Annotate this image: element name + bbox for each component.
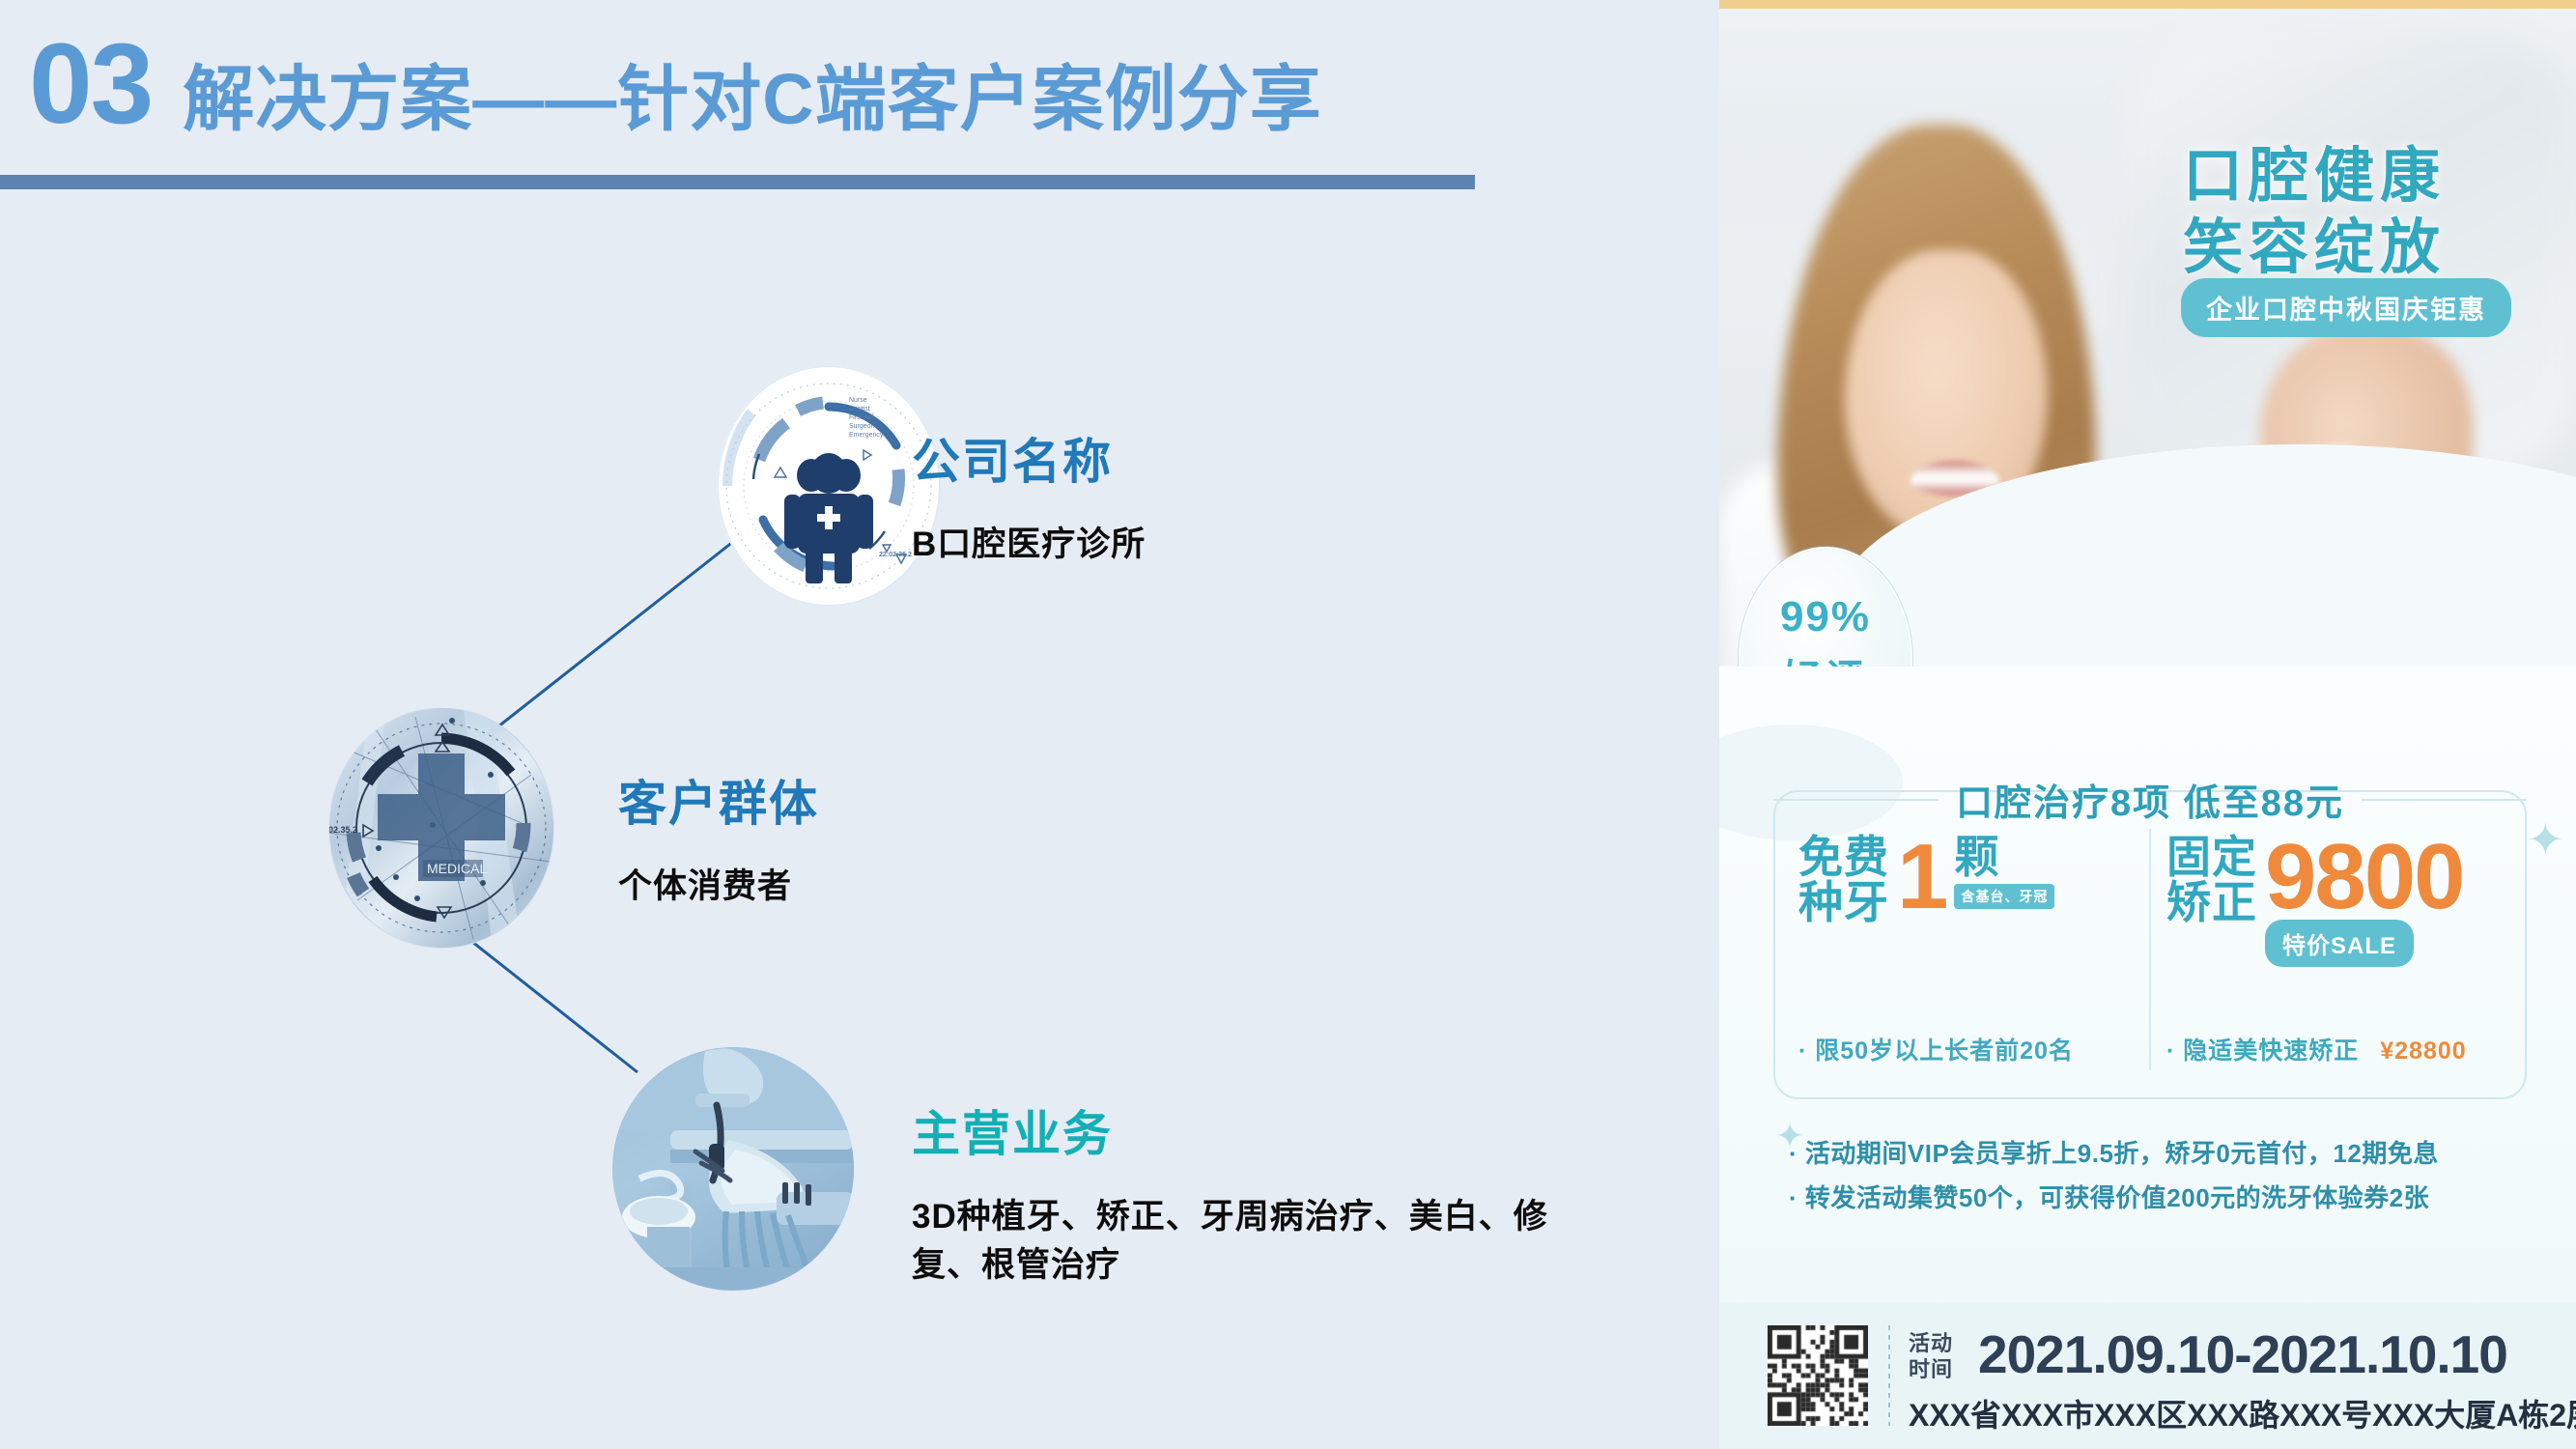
svg-text:First Aid: First Aid	[849, 414, 873, 421]
svg-text:Nurse: Nurse	[849, 397, 867, 404]
badge-company-icon: Nurse Dentist First Aid Surgeon Emergenc…	[717, 365, 941, 607]
svg-text:Surgeon: Surgeon	[849, 423, 875, 430]
offer-bullet-1: · 活动期间VIP会员享折上9.5折，矫牙0元首付，12期免息	[1789, 1132, 2439, 1177]
info-body-customer: 个体消费者	[618, 863, 819, 912]
offer-columns: 免费 种牙 1 颗 含基台、牙冠 · 限50岁以上长者前20名 固定	[1783, 829, 2517, 1070]
dental-chair-photo-icon	[612, 1047, 854, 1291]
svg-text:Dentist: Dentist	[849, 406, 870, 412]
svg-text:Emergency: Emergency	[849, 432, 884, 439]
poster-footer-bar: 活动 时间 2021.09.10-2021.10.10 XXX省XXX市XXX区…	[1719, 1302, 2576, 1449]
offer-footnote-implant: · 限50岁以上长者前20名	[1798, 1032, 2074, 1066]
offer-bullet-2: · 转发活动集赞50个，可获得价值200元的洗牙体验券2张	[1789, 1177, 2439, 1221]
offer-footnote-text: · 隐适美快速矫正	[2166, 1037, 2359, 1065]
svg-text:22:02:35.2: 22:02:35.2	[879, 552, 912, 558]
info-heading-company: 公司名称	[912, 437, 1146, 488]
badge-customer-icon: MEDICAL 02.35.2	[328, 707, 554, 949]
offer-word-line-2: 矫正	[2166, 880, 2257, 925]
medical-staff-badge-icon: Nurse Dentist First Aid Surgeon Emergenc…	[717, 365, 941, 607]
offer-footnote-price: ¥28800	[2380, 1037, 2466, 1065]
info-body-business: 3D种植牙、矫正、牙周病治疗、美白、修复、根管治疗	[912, 1193, 1588, 1292]
date-label-line-2: 时间	[1909, 1357, 1953, 1383]
info-heading-customer: 客户群体	[618, 779, 819, 830]
svg-text:02.35.2: 02.35.2	[328, 825, 357, 835]
offer-word-line-1: 免费	[1798, 835, 1889, 880]
poster-headline: 口腔健康 笑容绽放	[2183, 141, 2446, 285]
poster-headline-line-2: 笑容绽放	[2183, 213, 2446, 284]
info-block-company: 公司名称 B口腔医疗诊所	[912, 437, 1146, 569]
date-label: 活动 时间	[1909, 1331, 1953, 1383]
slide-left-content: 03 解决方案——针对C端客户案例分享	[0, 0, 1719, 1449]
poster-top-accent-bar	[1719, 0, 2576, 9]
offer-title: 口腔治疗8项 低至88元	[1956, 773, 2344, 826]
offer-word-line-1: 固定	[2166, 835, 2257, 880]
offer-footnote-braces: · 隐适美快速矫正 ¥28800	[2166, 1032, 2467, 1066]
poster-sub-badge: 企业口腔中秋国庆钜惠	[2181, 278, 2511, 337]
info-block-customer: 客户群体 个体消费者	[618, 779, 819, 911]
offer-words-implant: 免费 种牙	[1798, 835, 1889, 925]
footer-divider	[1888, 1325, 1890, 1426]
info-body-company: B口腔医疗诊所	[912, 521, 1146, 570]
offer-number-braces: 9800	[2265, 835, 2464, 920]
rule-left	[1773, 799, 1939, 801]
offer-main-braces: 固定 矫正 9800 特价SALE	[2166, 835, 2502, 967]
info-block-business: 主营业务 3D种植牙、矫正、牙周病治疗、美白、修复、根管治疗	[912, 1109, 1588, 1291]
medical-cross-badge-icon: MEDICAL 02.35.2	[328, 707, 554, 949]
poster-address: XXX省XXX市XXX区XXX路XXX号XXX大厦A栋2层	[1909, 1391, 2576, 1435]
offer-words-braces: 固定 矫正	[2166, 835, 2257, 925]
promo-poster-image: 口腔健康 笑容绽放 企业口腔中秋国庆钜惠 99% 好评 ✦ ✦ 口腔治疗8项 低…	[1719, 0, 2576, 1449]
offer-number-implant: 1	[1897, 835, 1946, 920]
date-label-line-1: 活动	[1909, 1331, 1953, 1357]
offer-unit-implant: 颗	[1954, 835, 2054, 880]
offer-chip-braces: 特价SALE	[2265, 920, 2414, 967]
date-range: 2021.09.10-2021.10.10	[1978, 1323, 2507, 1385]
rule-right	[2362, 799, 2527, 801]
info-heading-business: 主营业务	[912, 1109, 1588, 1160]
badge-business-icon	[612, 1047, 854, 1291]
offer-title-row: 口腔治疗8项 低至88元	[1773, 773, 2527, 826]
svg-text:MEDICAL: MEDICAL	[427, 861, 487, 876]
offer-column-braces: 固定 矫正 9800 特价SALE · 隐适美快速矫正 ¥28800	[2151, 829, 2517, 1070]
offer-chip-implant: 含基台、牙冠	[1954, 884, 2054, 909]
offer-bullets: · 活动期间VIP会员享折上9.5折，矫牙0元首付，12期免息 · 转发活动集赞…	[1789, 1132, 2439, 1220]
qr-code-icon	[1768, 1325, 1868, 1426]
offer-word-line-2: 种牙	[1798, 880, 1889, 925]
offer-footnote-text: · 限50岁以上长者前20名	[1798, 1037, 2074, 1065]
offer-main-implant: 免费 种牙 1 颗 含基台、牙冠	[1798, 835, 2134, 925]
rating-percent: 99%	[1780, 593, 1871, 641]
offer-column-implant: 免费 种牙 1 颗 含基台、牙冠 · 限50岁以上长者前20名	[1783, 829, 2151, 1070]
poster-headline-line-1: 口腔健康	[2183, 141, 2446, 213]
sparkle-icon: ✦	[2527, 817, 2564, 862]
